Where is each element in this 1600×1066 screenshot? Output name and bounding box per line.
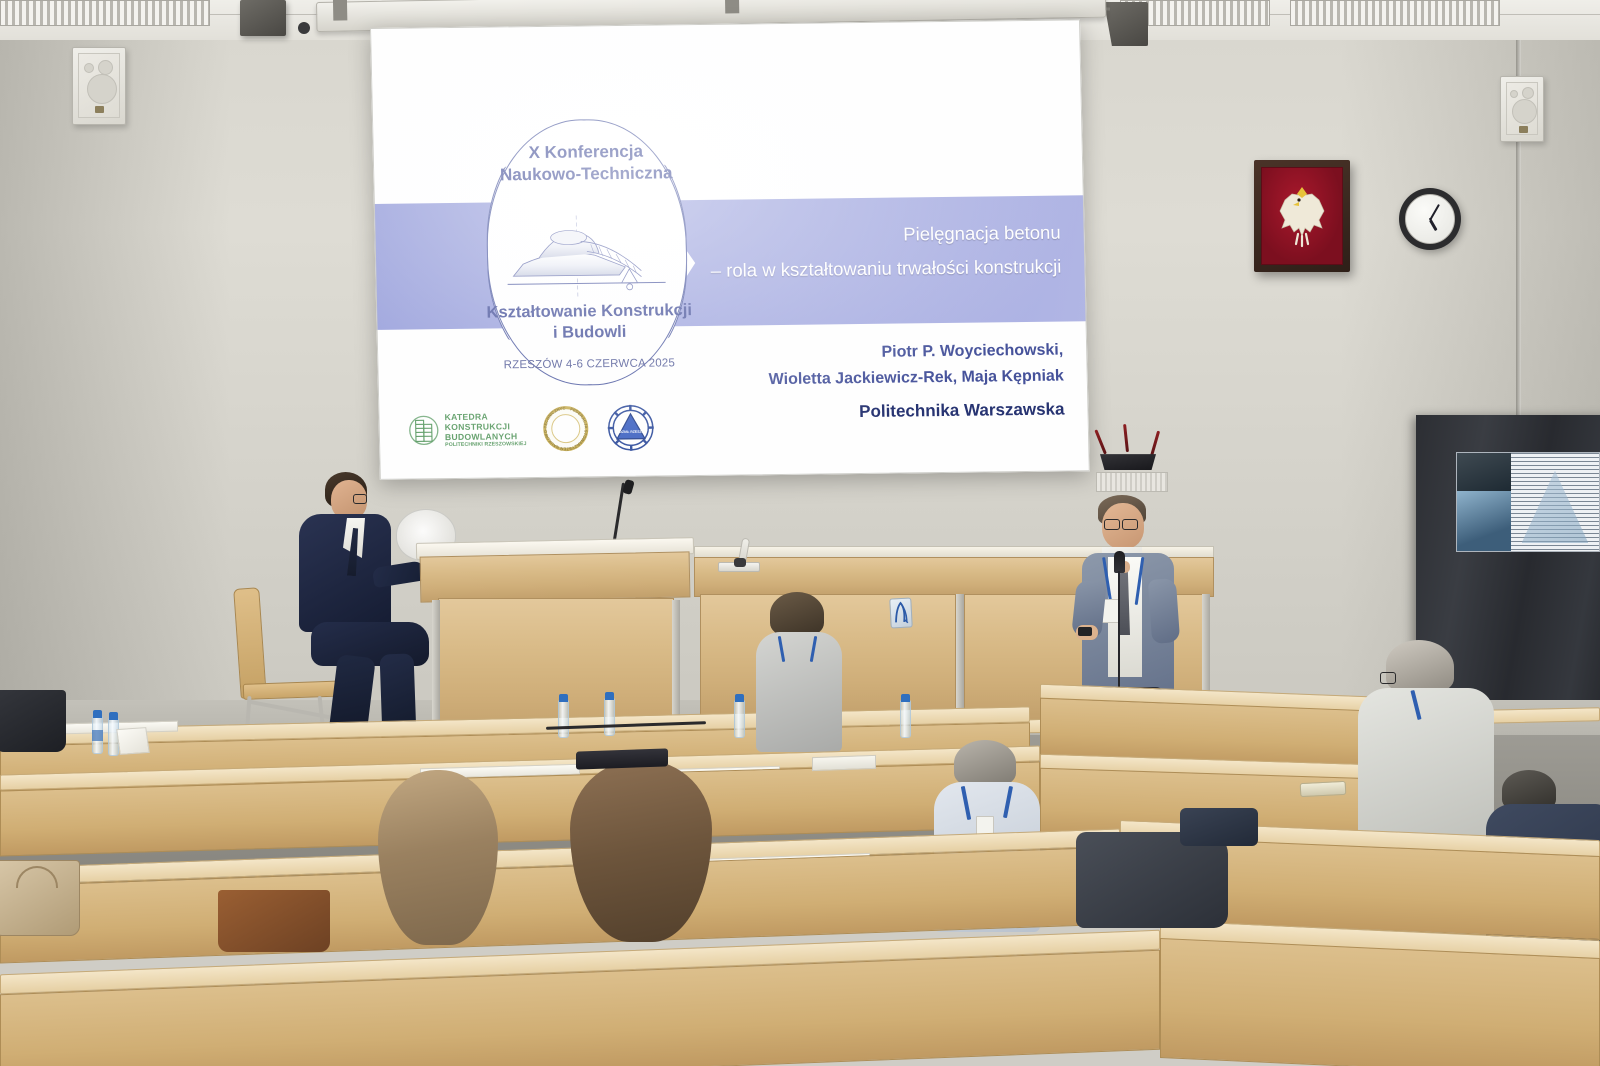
dark-bag: [0, 690, 66, 752]
bottle-cap: [109, 712, 118, 720]
bottle-cap: [605, 692, 614, 700]
water-bottle: [900, 700, 911, 738]
poster-photo-top: [1457, 453, 1511, 491]
hair: [770, 592, 824, 636]
hair: [954, 740, 1016, 786]
screen-bracket-left: [333, 0, 347, 21]
microphone-cable: [1118, 571, 1120, 687]
lectern-front-panel: [420, 551, 691, 602]
poster-watermark: [1522, 471, 1589, 544]
long-blonde-hair: [378, 770, 498, 945]
light-grey-top: [756, 632, 842, 752]
speaker-midrange: [98, 60, 113, 75]
projection-screen: X Konferencja Naukowo-Techniczna: [370, 19, 1090, 480]
speaker-tweeter: [1510, 90, 1518, 98]
audience-front-center: [748, 592, 858, 762]
ceiling-light-3: [1290, 0, 1500, 26]
polish-eagle-emblem: [1254, 160, 1350, 272]
speaker-badge: [95, 106, 104, 113]
brown-leather-bag: [218, 890, 330, 952]
bottle-cap: [559, 694, 568, 702]
glasses-left-lens: [1104, 519, 1120, 530]
poster-photo-bottom: [1457, 491, 1511, 551]
speaker-tweeter: [84, 63, 94, 73]
screen-edge: [370, 19, 1090, 480]
water-bottle: [558, 700, 569, 738]
poster-images: [1457, 453, 1511, 551]
eagle-emblem-field: [1261, 167, 1343, 265]
long-brown-hair: [570, 760, 712, 942]
glass-bottle: [1300, 781, 1347, 797]
presentation-clicker: [1078, 627, 1092, 636]
projector-lens: [298, 22, 310, 34]
bottle-label: [92, 730, 103, 741]
politechnika-rzeszowska-sticker: [889, 597, 913, 628]
glasses-icon: [1380, 672, 1396, 684]
speaker-woofer: [1512, 99, 1537, 124]
prz-logo-icon: [890, 598, 911, 627]
bench-front-panel: [1160, 938, 1600, 1066]
glasses-icon: [353, 494, 367, 504]
handheld-microphone: [1114, 551, 1125, 573]
wall-speaker-left: [72, 47, 126, 125]
glasses-right-lens: [1122, 519, 1138, 530]
folded-paper: [116, 727, 150, 755]
speaker-midrange: [1522, 87, 1534, 99]
floor-power-strip: [576, 748, 668, 769]
speaker-woofer: [87, 74, 117, 104]
clock-hour-hand: [1429, 219, 1437, 231]
wall-speaker-right: [1500, 76, 1544, 142]
arm-right: [1148, 578, 1180, 644]
poster-text-column: [1511, 453, 1599, 551]
speaker-badge: [1519, 126, 1528, 133]
papers-on-bench: [812, 755, 876, 771]
eagle-icon: [1272, 180, 1332, 252]
tier-row-4: [0, 952, 1160, 1066]
bottle-cap: [93, 710, 102, 718]
water-bottle: [604, 698, 615, 736]
water-bottle: [734, 700, 745, 738]
bottle-cap: [735, 694, 744, 702]
hair: [1386, 640, 1454, 692]
clock-face: [1405, 194, 1455, 244]
ceiling-light-1: [0, 0, 210, 26]
bottle-cap: [901, 694, 910, 702]
document-camera: [718, 538, 760, 572]
clock-center-pin: [1429, 218, 1432, 220]
tier-row-4-right: [1160, 930, 1600, 1066]
wall-clock: [1399, 188, 1461, 250]
wall-vent: [1096, 472, 1168, 492]
doc-cam-lens: [734, 558, 746, 567]
projector-ceiling-mount: [240, 0, 286, 36]
conference-poster: [1456, 452, 1600, 552]
draped-jacket: [1076, 832, 1228, 928]
screen-bracket-right: [725, 0, 739, 14]
bag-on-bench: [1180, 808, 1258, 846]
lecture-hall-photo: X Konferencja Naukowo-Techniczna: [0, 0, 1600, 1066]
